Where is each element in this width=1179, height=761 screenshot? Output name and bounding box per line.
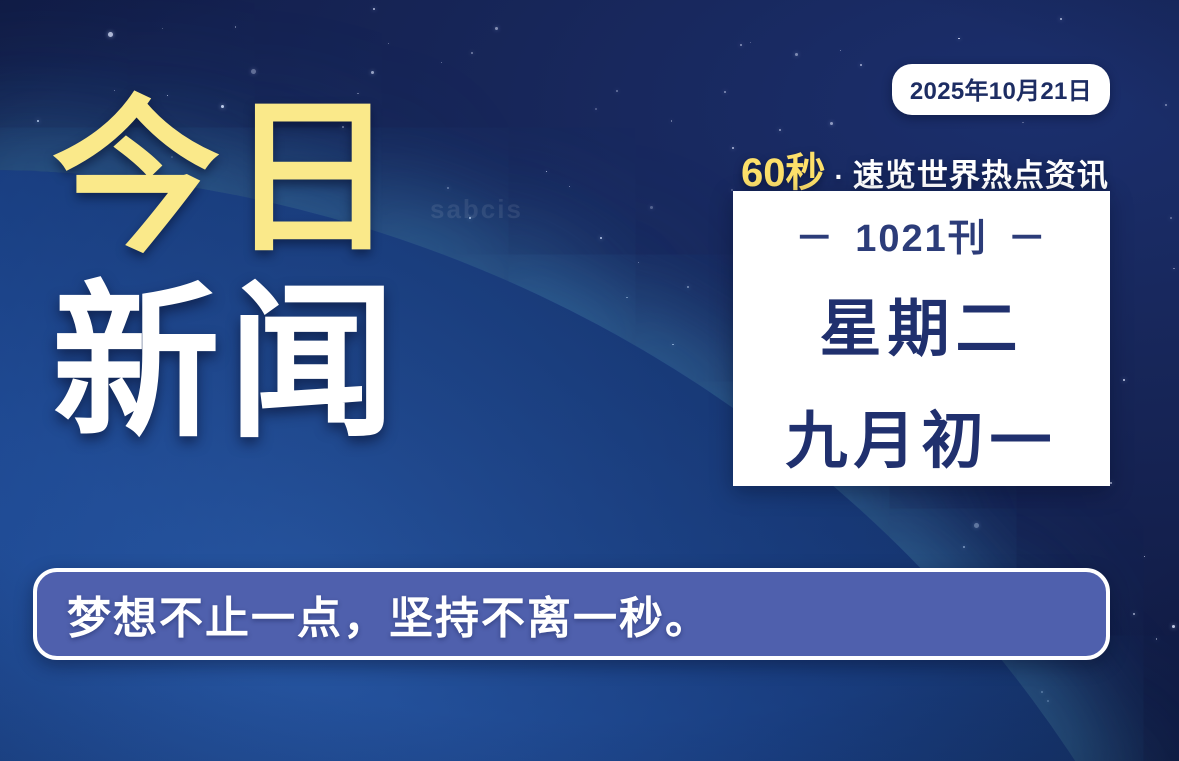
issue-row: － 1021刊 －: [795, 207, 1048, 262]
tagline-description: 速览世界热点资讯: [853, 150, 1109, 195]
quote-text: 梦想不止一点，坚持不离一秒。: [37, 582, 711, 646]
tagline: 60秒 · 速览世界热点资讯: [741, 140, 1109, 198]
tagline-separator: ·: [832, 161, 847, 193]
news-poster: sabcis 今日 新闻 2025年10月21日 60秒 · 速览世界热点资讯 …: [0, 0, 1179, 761]
issue-number: 1021刊: [855, 207, 988, 262]
issue-dash-right: －: [1008, 207, 1048, 262]
date-badge: 2025年10月21日: [892, 64, 1110, 115]
calendar-card: － 1021刊 － 星期二 九月初一: [733, 191, 1110, 486]
headline-line-today: 今日: [52, 96, 404, 261]
headline-line-news: 新闻: [52, 281, 404, 446]
weekday-label: 星期二: [819, 278, 1023, 368]
page-title: 今日 新闻: [52, 96, 404, 445]
quote-banner: 梦想不止一点，坚持不离一秒。: [33, 568, 1110, 660]
watermark-text: sabcis: [430, 194, 523, 225]
issue-dash-left: －: [795, 207, 835, 262]
tagline-seconds: 60秒: [741, 140, 826, 198]
lunar-date-label: 九月初一: [785, 390, 1057, 480]
